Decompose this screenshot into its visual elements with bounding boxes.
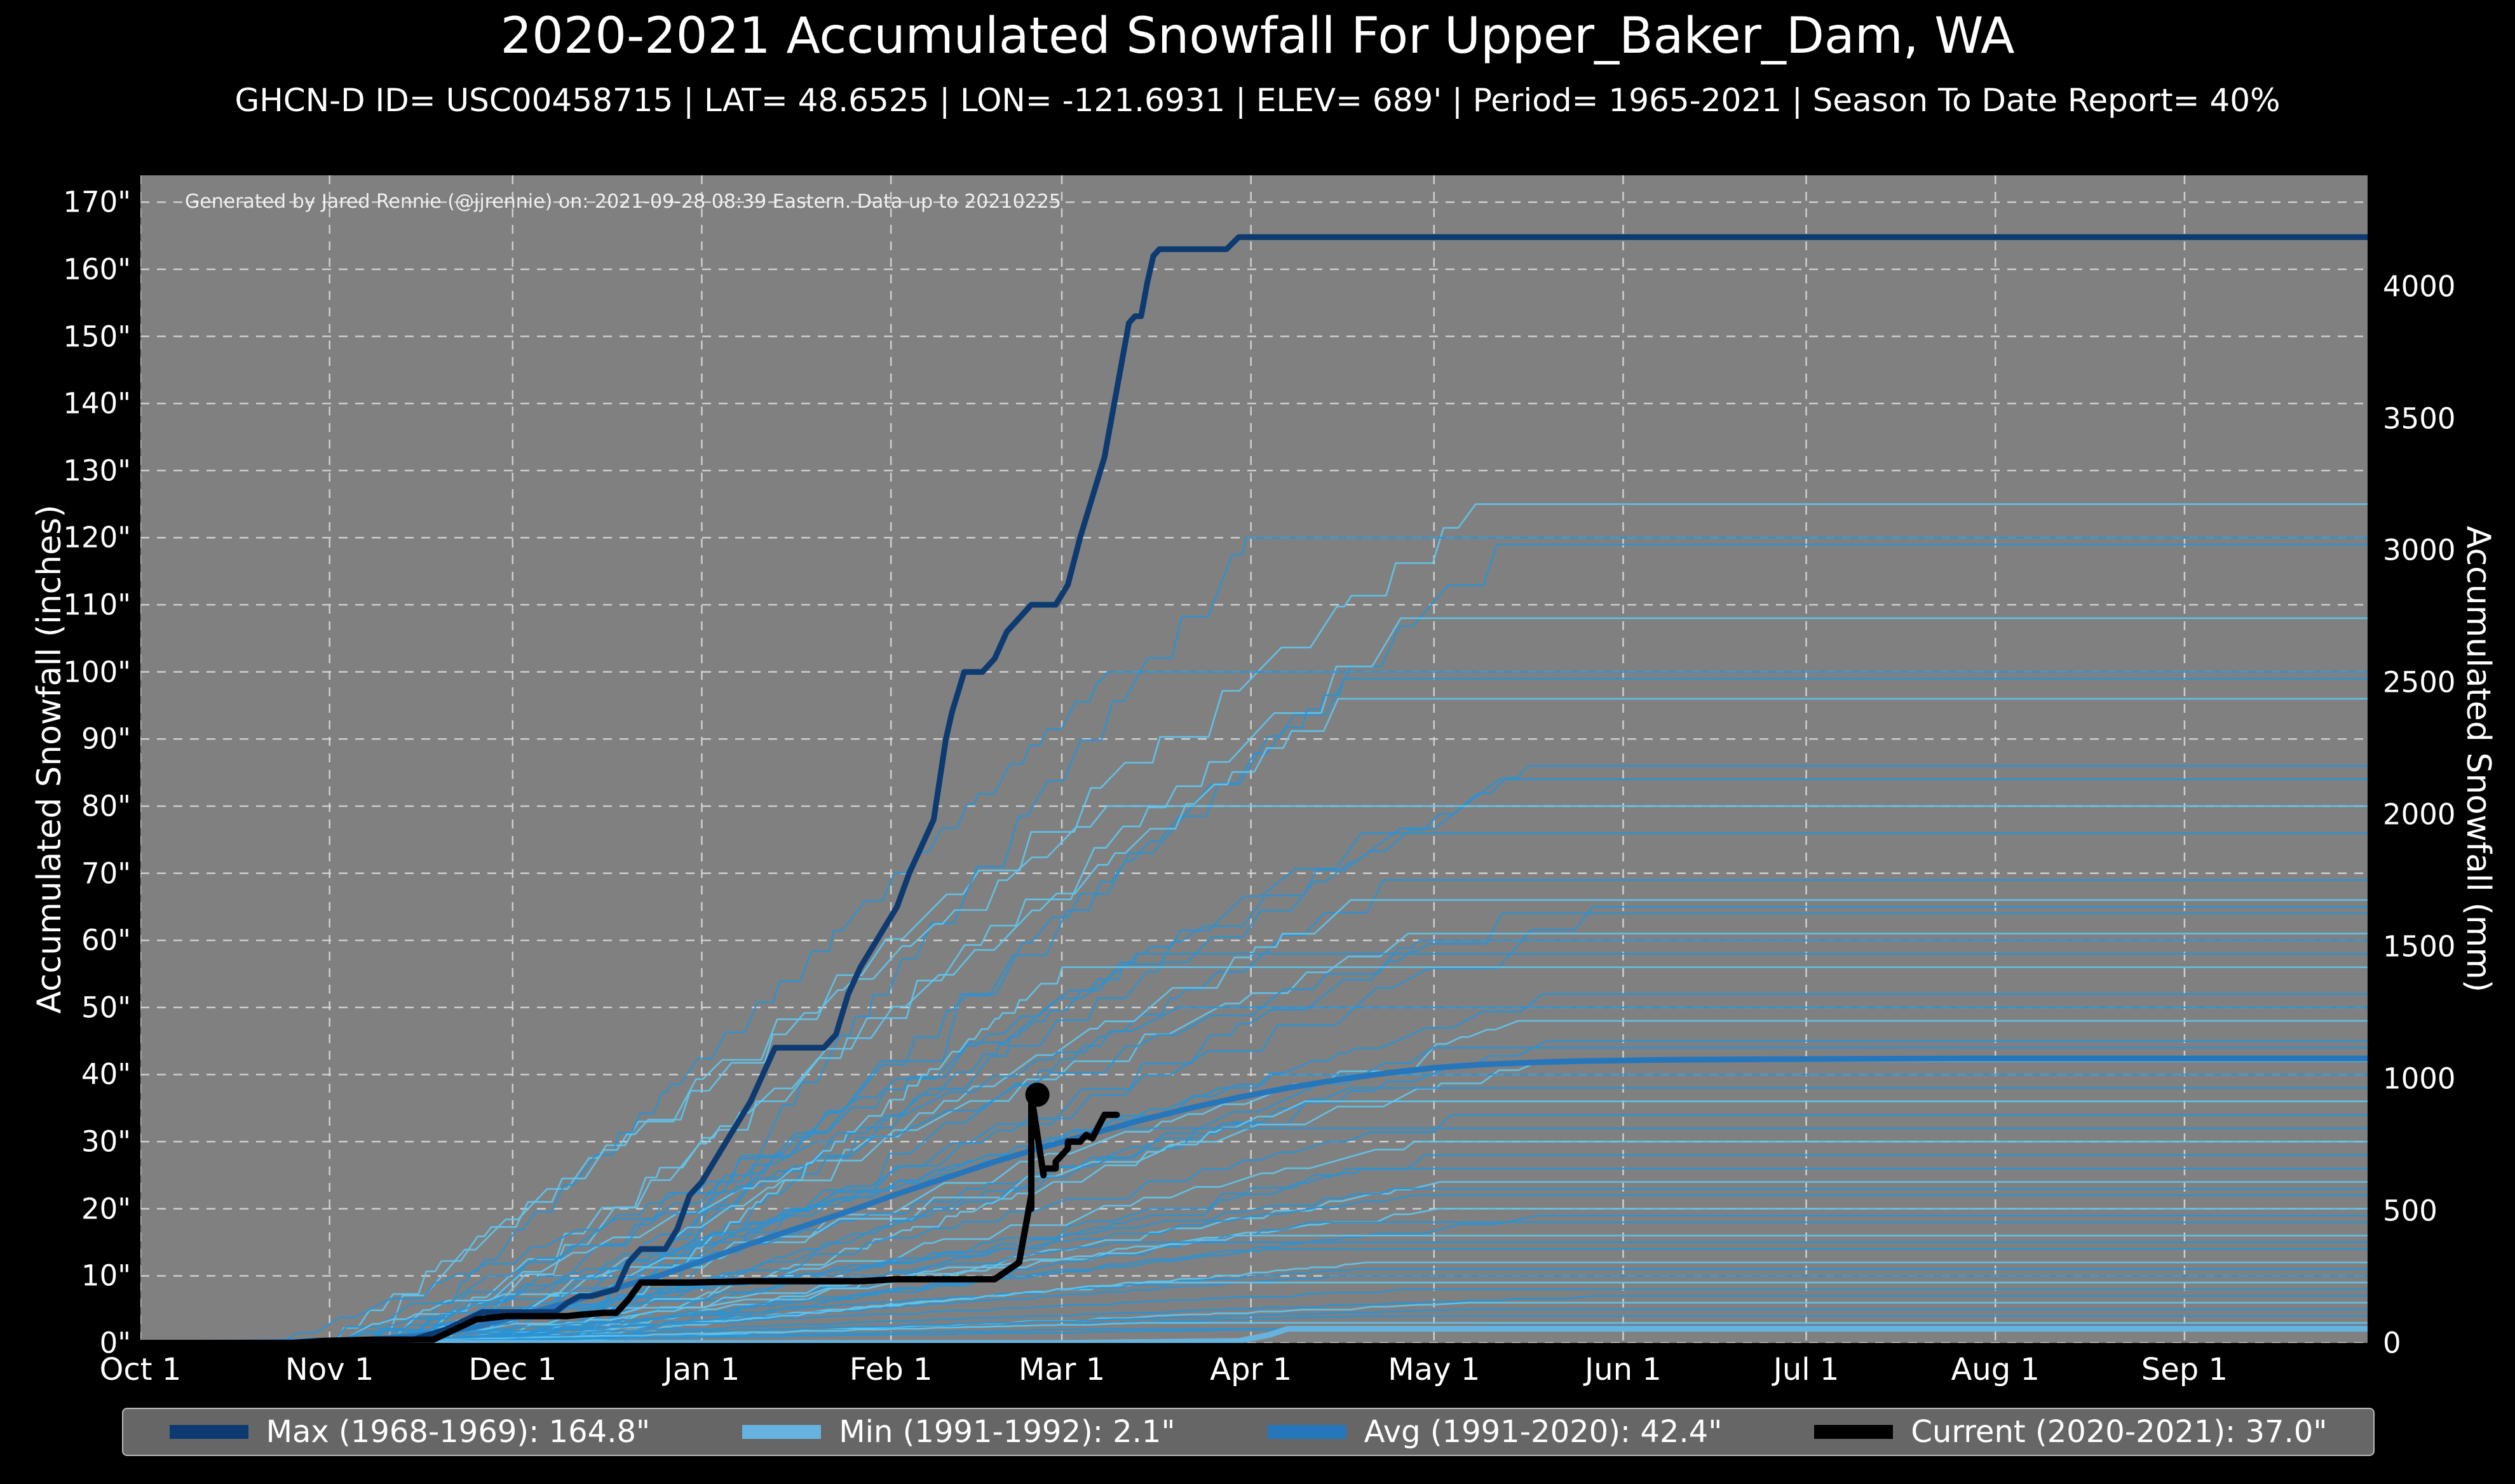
x-tick-sep-1: Sep 1: [2141, 1352, 2228, 1387]
title-block: 2020-2021 Accumulated Snowfall For Upper…: [0, 0, 2515, 119]
x-tick-jun-1: Jun 1: [1585, 1352, 1662, 1387]
page-title: 2020-2021 Accumulated Snowfall For Upper…: [0, 0, 2515, 61]
y-tick-left-170in: 170": [63, 185, 131, 219]
y-tick-left-140in: 140": [63, 387, 131, 421]
x-tick-jul-1: Jul 1: [1773, 1352, 1840, 1387]
y-tick-left-10in: 10": [81, 1259, 131, 1293]
legend-current[interactable]: Current (2020-2021): 37.0": [1814, 1417, 2327, 1447]
y-tick-left-30in: 30": [81, 1125, 131, 1159]
y-tick-left-60in: 60": [81, 924, 131, 957]
y-tick-left-40in: 40": [81, 1058, 131, 1091]
legend-avg-label: Avg (1991-2020): 42.4": [1364, 1417, 1723, 1447]
credit-text: Generated by Jared Rennie (@jjrennie) on…: [185, 191, 1061, 213]
y-tick-right-1000: 1000: [2383, 1062, 2456, 1096]
y-tick-left-70in: 70": [81, 856, 131, 890]
legend-max-swatch-icon: [170, 1425, 248, 1439]
y-tick-left-110in: 110": [63, 588, 131, 622]
x-tick-feb-1: Feb 1: [850, 1352, 933, 1387]
y-tick-left-150in: 150": [63, 320, 131, 353]
y-tick-left-160in: 160": [63, 252, 131, 286]
chart-canvas: [140, 175, 2368, 1343]
x-tick-apr-1: Apr 1: [1210, 1352, 1292, 1387]
y-tick-left-90in: 90": [81, 722, 131, 756]
plot-area: Generated by Jared Rennie (@jjrennie) on…: [140, 175, 2368, 1343]
x-tick-oct-1: Oct 1: [100, 1352, 182, 1387]
legend-avg-swatch-icon: [1268, 1425, 1346, 1439]
legend-current-swatch-icon: [1814, 1425, 1893, 1439]
y-tick-right-0: 0: [2383, 1326, 2401, 1360]
chart-legend: Max (1968-1969): 164.8"Min (1991-1992): …: [122, 1408, 2375, 1456]
y-tick-right-4000: 4000: [2383, 269, 2456, 303]
y-tick-right-2500: 2500: [2383, 666, 2456, 699]
y-tick-left-50in: 50": [81, 990, 131, 1024]
legend-avg[interactable]: Avg (1991-2020): 42.4": [1268, 1417, 1723, 1447]
station-metadata-subtitle: GHCN-D ID= USC00458715 | LAT= 48.6525 | …: [0, 61, 2515, 119]
x-tick-dec-1: Dec 1: [468, 1352, 557, 1387]
y-tick-right-2000: 2000: [2383, 798, 2456, 832]
y-tick-right-1500: 1500: [2383, 930, 2456, 964]
legend-current-label: Current (2020-2021): 37.0": [1911, 1417, 2327, 1447]
y-tick-left-20in: 20": [81, 1192, 131, 1225]
y-tick-left-100in: 100": [63, 655, 131, 689]
y-tick-right-500: 500: [2383, 1194, 2437, 1228]
y-axis-label-mm: Accumulated Snowfall (mm): [2459, 175, 2497, 1343]
legend-min[interactable]: Min (1991-1992): 2.1": [742, 1417, 1175, 1447]
x-tick-jan-1: Jan 1: [664, 1352, 740, 1387]
legend-min-label: Min (1991-1992): 2.1": [839, 1417, 1175, 1447]
x-tick-mar-1: Mar 1: [1019, 1352, 1105, 1387]
historical-season-traces: [140, 504, 2368, 1343]
legend-max-label: Max (1968-1969): 164.8": [266, 1417, 651, 1447]
x-tick-nov-1: Nov 1: [285, 1352, 374, 1387]
y-tick-left-120in: 120": [63, 521, 131, 555]
legend-min-swatch-icon: [742, 1425, 821, 1439]
y-tick-left-130in: 130": [63, 454, 131, 487]
y-tick-right-3500: 3500: [2383, 401, 2456, 435]
y-tick-right-3000: 3000: [2383, 534, 2456, 567]
current-value-marker: [1026, 1083, 1050, 1107]
x-tick-may-1: May 1: [1388, 1352, 1480, 1387]
legend-max[interactable]: Max (1968-1969): 164.8": [170, 1417, 651, 1447]
y-tick-left-80in: 80": [81, 789, 131, 823]
x-tick-aug-1: Aug 1: [1951, 1352, 2040, 1387]
